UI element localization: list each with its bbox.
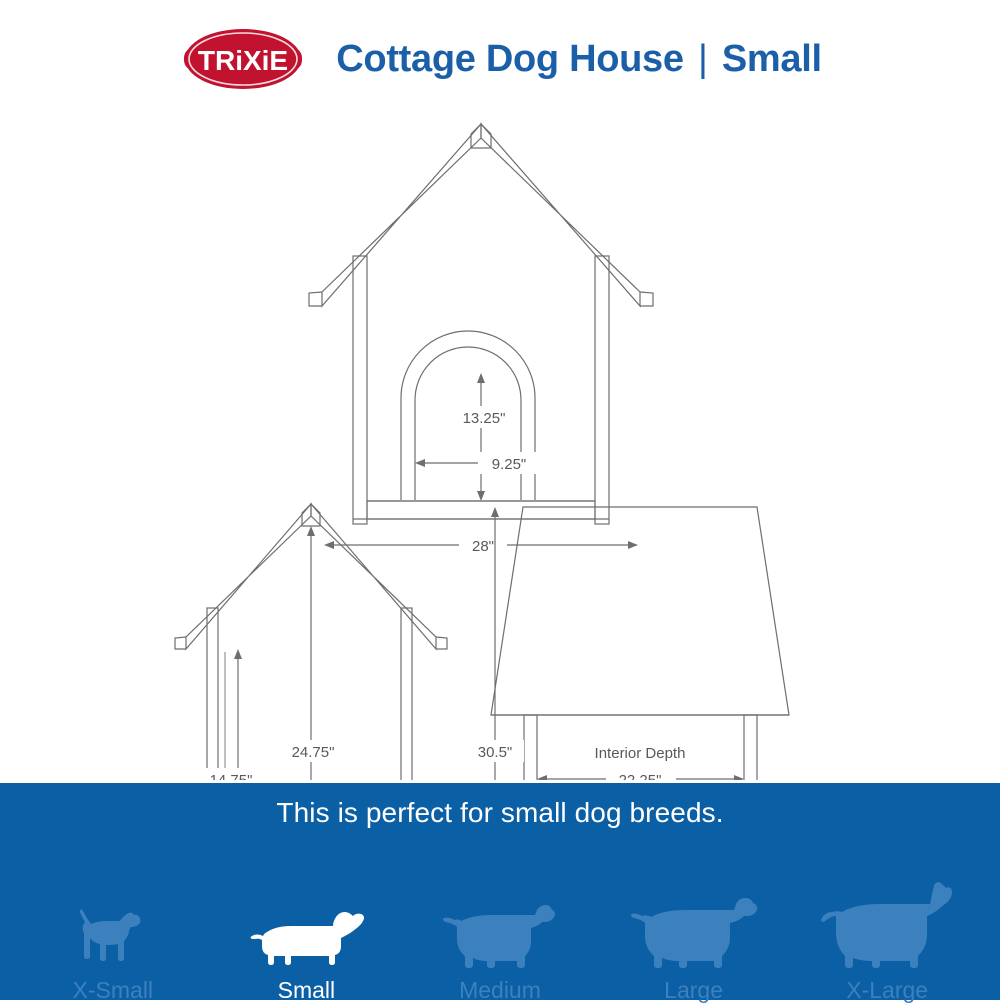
size-label-medium: Medium (459, 978, 541, 1003)
size-option-x-small[interactable]: X-Small (16, 841, 210, 1003)
header: TRiXiE Cottage Dog House | Small (0, 0, 1000, 118)
front-door-height-label: 13.25" (463, 410, 506, 427)
front-overall-width-label: 28" (472, 538, 494, 555)
profile-overall-height-label: 30.5" (478, 744, 513, 761)
dimension-diagrams: 13.25" 9.25" 28" (0, 108, 1000, 780)
front-door-height-dimension: 13.25" (449, 373, 519, 501)
front-overall-width-dimension: 28" (324, 534, 638, 556)
size-option-x-large[interactable]: X-Large (790, 841, 984, 1003)
infographic-page: TRiXiE Cottage Dog House | Small (0, 0, 1000, 1000)
title-main: Cottage Dog House (336, 38, 683, 80)
side-wall-height-dimension: 14.75" (198, 649, 264, 780)
banner-headline: This is perfect for small dog breeds. (0, 797, 1000, 829)
page-title: Cottage Dog House | Small (336, 38, 821, 81)
dog-silhouette-x-large (818, 860, 956, 972)
title-separator: | (694, 38, 712, 80)
size-scale: X-Small Small Medium (0, 841, 1000, 1003)
interior-depth-title: Interior Depth (595, 745, 686, 762)
side-peak-height-dimension: 24.75" (280, 526, 346, 780)
logo-wordmark: TRiXiE (198, 45, 288, 76)
size-label-large: Large (664, 978, 723, 1003)
dog-silhouette-medium (441, 860, 559, 972)
front-door-width-dimension: 9.25" (415, 452, 540, 474)
size-banner: This is perfect for small dog breeds. X-… (0, 780, 1000, 1000)
profile-interior-depth-dimension: 22.25" (537, 768, 744, 780)
size-label-x-large: X-Large (846, 978, 928, 1003)
size-option-small[interactable]: Small (210, 841, 404, 1003)
dog-silhouette-small (241, 860, 371, 972)
trixie-logo: TRiXiE (178, 23, 308, 95)
side-peak-height-label: 24.75" (292, 744, 335, 761)
title-variant: Small (722, 38, 822, 80)
size-option-medium[interactable]: Medium (403, 841, 597, 1003)
front-door-width-label: 9.25" (492, 456, 527, 473)
size-option-large[interactable]: Large (597, 841, 791, 1003)
size-label-x-small: X-Small (73, 978, 154, 1003)
front-view-diagram: 13.25" 9.25" 28" (309, 124, 653, 556)
profile-interior-depth-label: 22.25" (619, 772, 662, 780)
size-label-small: Small (278, 978, 336, 1003)
dog-silhouette-large (630, 860, 758, 972)
profile-view-diagram: 30.5" Interior Depth 22.25" (466, 507, 789, 780)
dog-silhouette-x-small (65, 860, 161, 972)
side-wall-height-label: 14.75" (210, 772, 253, 780)
